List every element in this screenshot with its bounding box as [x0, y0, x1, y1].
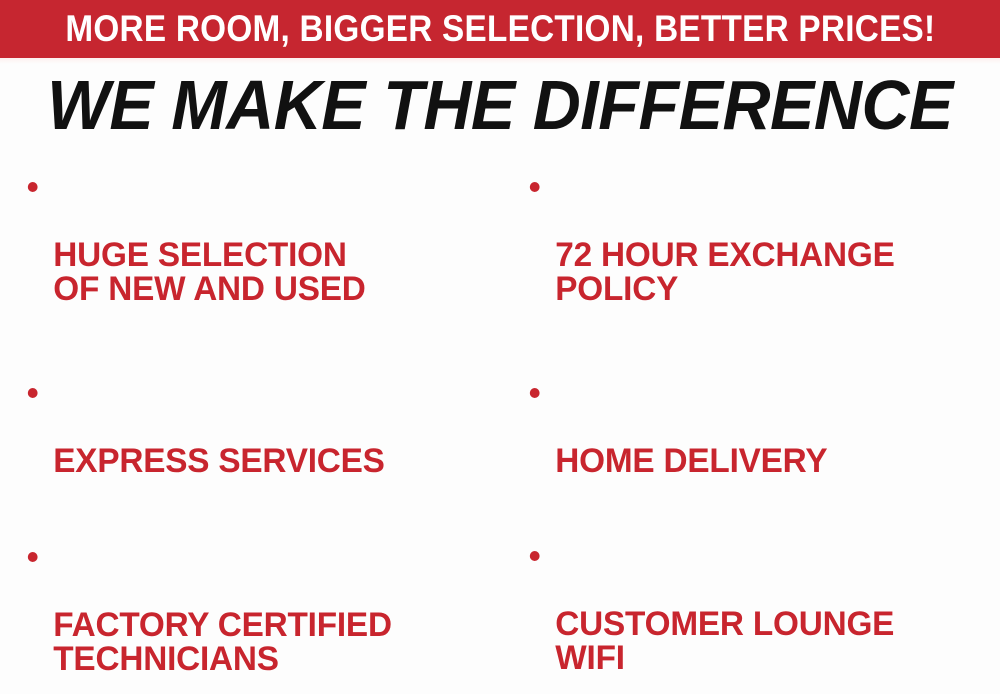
list-item-label: 72 HOUR EXCHANGE POLICY: [555, 238, 990, 306]
list-item-label: HOME DELIVERY: [555, 444, 990, 478]
list-item-label: CUSTOMER LOUNGE WIFI: [555, 607, 990, 675]
list-item: HOME DELIVERY: [520, 376, 990, 512]
features-column-right: 72 HOUR EXCHANGE POLICY HOME DELIVERY CU…: [520, 160, 1000, 694]
bullet-dot-icon: [530, 388, 540, 398]
list-item: EXPRESS SERVICES: [18, 376, 498, 512]
features-column-left: HUGE SELECTION OF NEW AND USED EXPRESS S…: [18, 160, 508, 694]
list-item: FACTORY CERTIFIED TECHNICIANS: [18, 540, 498, 694]
banner-underglow: [0, 58, 1000, 64]
list-item: CUSTOMER LOUNGE WIFI: [520, 539, 990, 694]
list-item-label: FACTORY CERTIFIED TECHNICIANS: [53, 608, 498, 676]
bullet-dot-icon: [28, 388, 38, 398]
list-item: 72 HOUR EXCHANGE POLICY: [520, 170, 990, 340]
top-banner: MORE ROOM, BIGGER SELECTION, BETTER PRIC…: [0, 0, 1000, 58]
list-item-label: HUGE SELECTION OF NEW AND USED: [53, 238, 498, 306]
list-item: HUGE SELECTION OF NEW AND USED: [18, 170, 498, 340]
banner-headline-text: MORE ROOM, BIGGER SELECTION, BETTER PRIC…: [65, 10, 935, 48]
bullet-dot-icon: [530, 551, 540, 561]
bullet-dot-icon: [28, 182, 38, 192]
page-title: WE MAKE THE DIFFERENCE: [25, 68, 975, 142]
promotional-poster: MORE ROOM, BIGGER SELECTION, BETTER PRIC…: [0, 0, 1000, 694]
bullet-dot-icon: [530, 182, 540, 192]
list-item-label: EXPRESS SERVICES: [53, 444, 498, 478]
features-section: HUGE SELECTION OF NEW AND USED EXPRESS S…: [0, 160, 1000, 694]
bullet-dot-icon: [28, 552, 38, 562]
